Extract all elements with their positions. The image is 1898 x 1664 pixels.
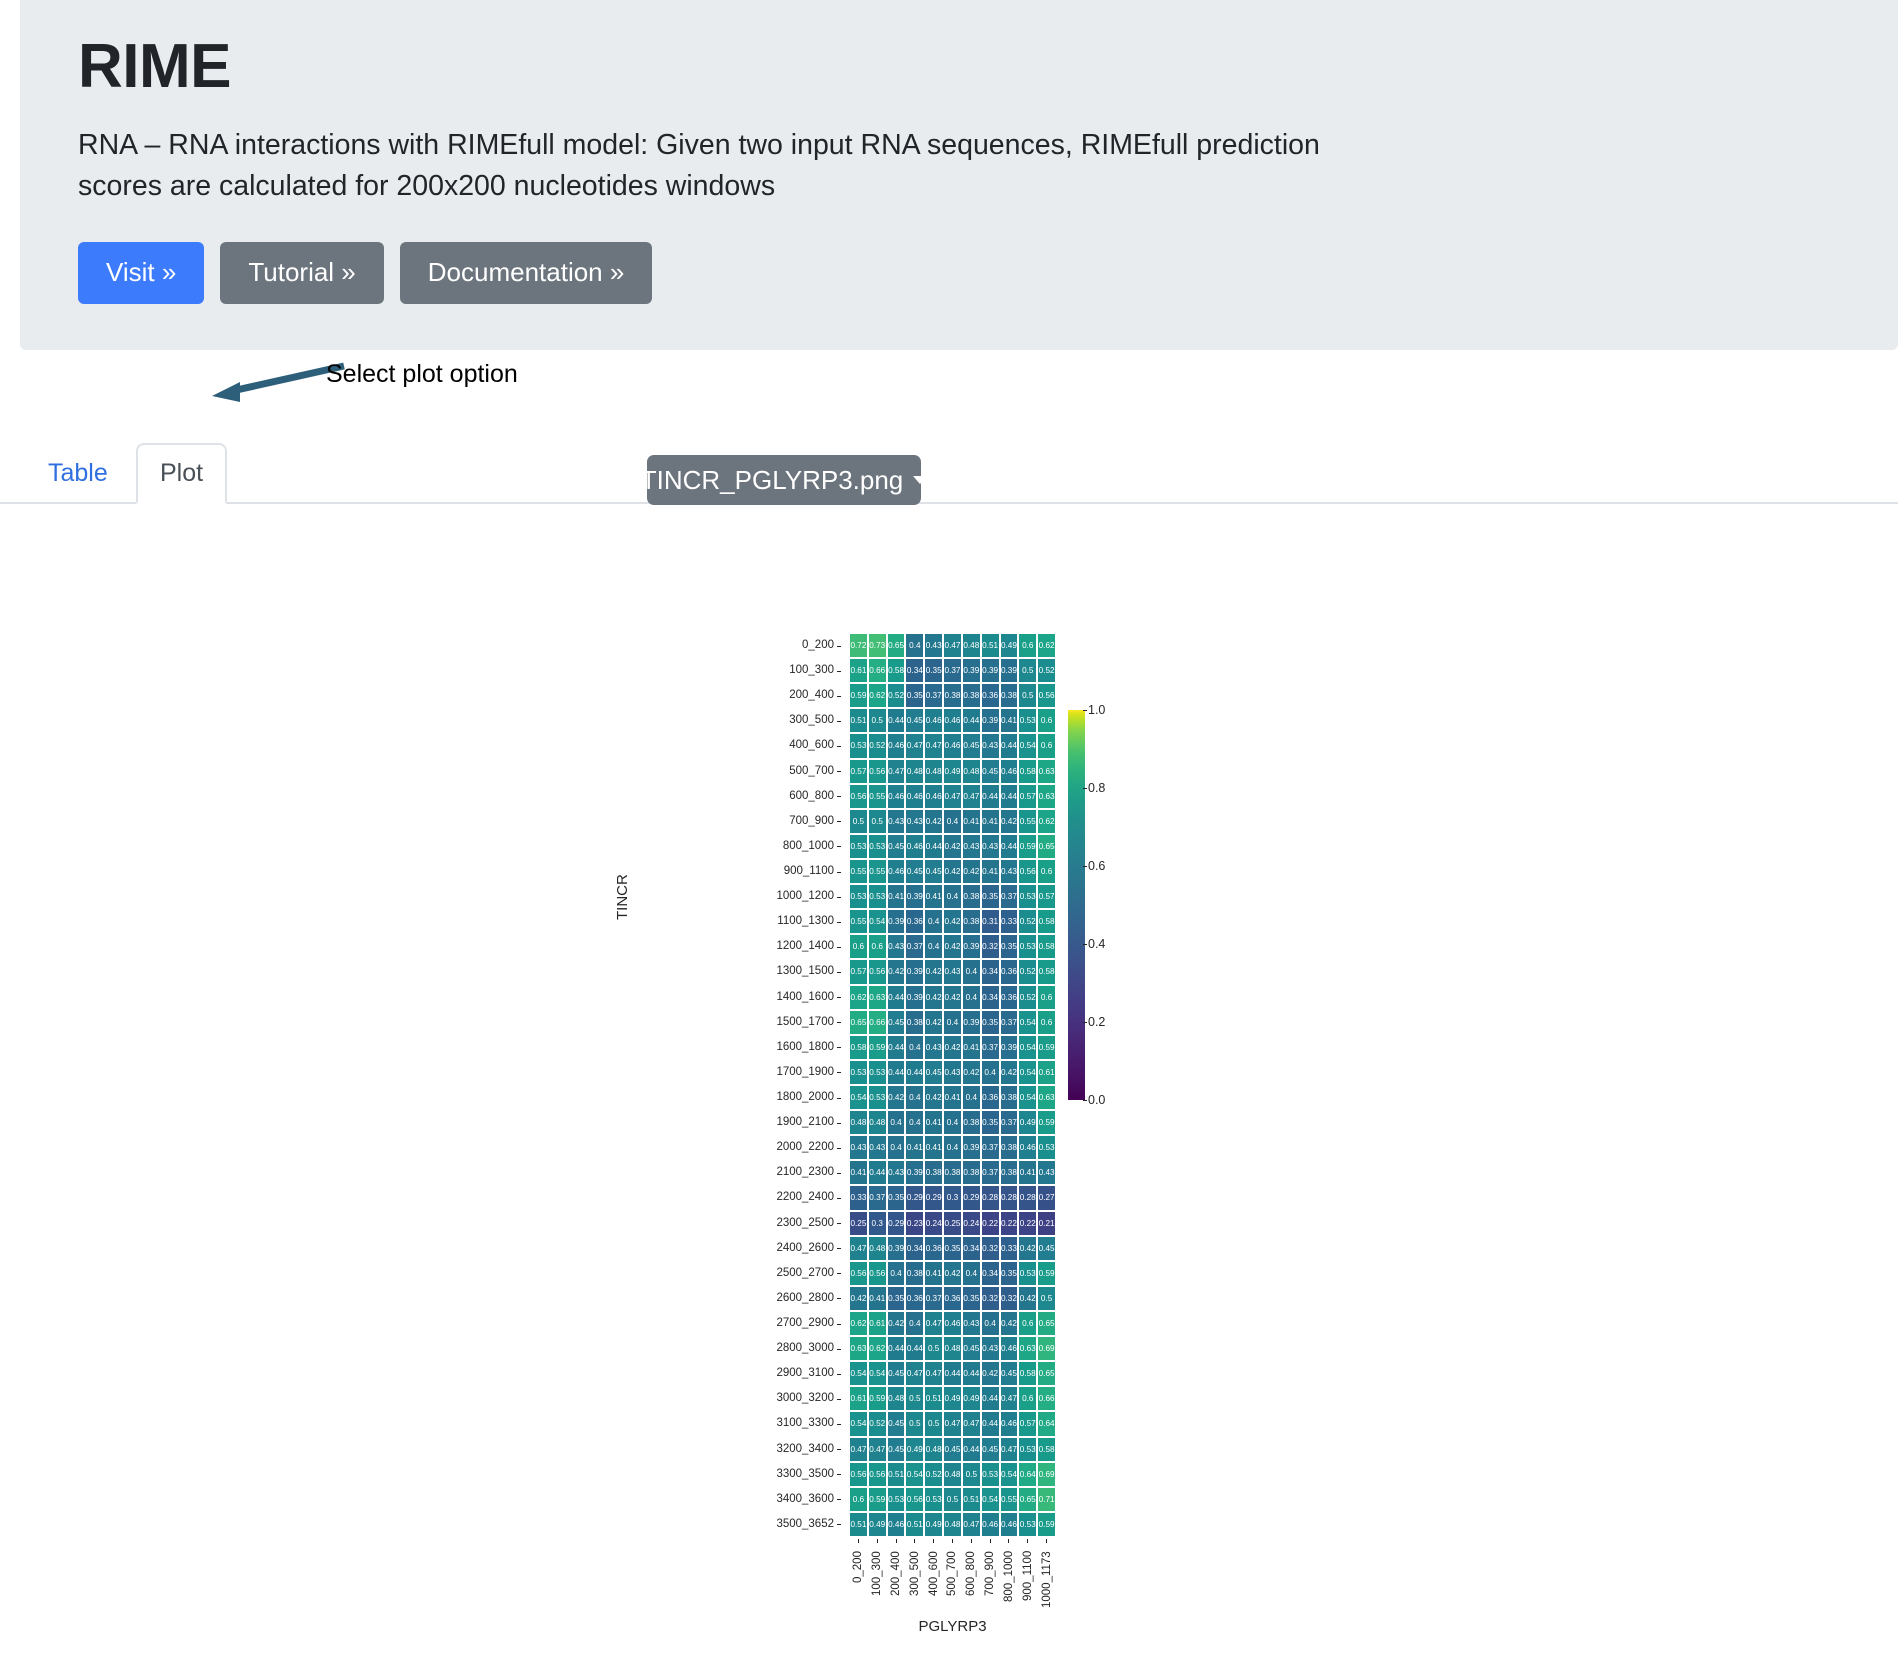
heatmap-cell: 0.58	[1018, 1361, 1037, 1386]
heatmap-cell: 0.58	[1037, 934, 1056, 959]
heatmap-cell: 0.48	[887, 1386, 906, 1411]
heatmap-cell: 0.46	[887, 784, 906, 809]
heatmap-cell: 0.42	[1018, 1286, 1037, 1311]
heatmap-cell: 0.54	[868, 1361, 887, 1386]
heatmap-cell: 0.42	[943, 985, 962, 1010]
heatmap-cell: 0.57	[849, 759, 868, 784]
heatmap-cell: 0.43	[1037, 1160, 1056, 1185]
heatmap-cell: 0.38	[962, 1110, 981, 1135]
heatmap-cell: 0.32	[981, 934, 1000, 959]
heatmap-cell: 0.47	[943, 1411, 962, 1436]
heatmap-cell: 0.52	[887, 683, 906, 708]
heatmap-cell: 0.43	[887, 1160, 906, 1185]
heatmap-cell: 0.4	[924, 909, 943, 934]
heatmap-cell: 0.55	[849, 909, 868, 934]
heatmap-cell: 0.35	[1000, 934, 1019, 959]
heatmap-cell: 0.36	[981, 1085, 1000, 1110]
annotation-arrow-icon	[196, 360, 346, 410]
heatmap-colorbar	[1068, 710, 1085, 1100]
heatmap-cell: 0.48	[924, 759, 943, 784]
heatmap-cell: 0.31	[981, 909, 1000, 934]
heatmap-cell: 0.41	[962, 1035, 981, 1060]
heatmap-cell: 0.36	[981, 683, 1000, 708]
heatmap-cell: 0.53	[868, 884, 887, 909]
heatmap-cell: 0.42	[962, 859, 981, 884]
heatmap-cell: 0.5	[1018, 658, 1037, 683]
heatmap-cell: 0.35	[962, 1286, 981, 1311]
heatmap-cell: 0.51	[887, 1462, 906, 1487]
heatmap-row-label: 1300_1500	[620, 959, 842, 984]
heatmap-cell: 0.22	[1018, 1211, 1037, 1236]
heatmap-cell: 0.44	[962, 1361, 981, 1386]
heatmap-cell: 0.41	[924, 1135, 943, 1160]
heatmap-cell: 0.34	[962, 1236, 981, 1261]
heatmap-cell: 0.39	[887, 1236, 906, 1261]
heatmap-cell: 0.55	[868, 784, 887, 809]
heatmap-cell: 0.45	[981, 759, 1000, 784]
heatmap-cell: 0.54	[868, 909, 887, 934]
heatmap-cell: 0.48	[924, 1437, 943, 1462]
heatmap-cell: 0.43	[924, 633, 943, 658]
heatmap-cell: 0.43	[981, 834, 1000, 859]
heatmap-cell: 0.65	[849, 1010, 868, 1035]
heatmap-cell: 0.45	[887, 1437, 906, 1462]
heatmap-cell: 0.54	[849, 1085, 868, 1110]
heatmap-col-label-wrap: 100_300	[868, 1539, 887, 1613]
heatmap-cell: 0.73	[868, 633, 887, 658]
heatmap-cell: 0.48	[943, 1336, 962, 1361]
heatmap-col-label: 700_900	[984, 1551, 996, 1613]
heatmap-cell: 0.45	[887, 1010, 906, 1035]
heatmap-cell: 0.42	[887, 1311, 906, 1336]
heatmap-cell: 0.37	[924, 683, 943, 708]
heatmap-cell: 0.47	[943, 633, 962, 658]
heatmap-cell: 0.37	[981, 1135, 1000, 1160]
heatmap-cell: 0.69	[1037, 1336, 1056, 1361]
heatmap-row-label: 2900_3100	[620, 1361, 842, 1386]
heatmap-cell: 0.51	[849, 708, 868, 733]
heatmap-cell: 0.45	[887, 834, 906, 859]
heatmap-cell: 0.43	[905, 809, 924, 834]
heatmap-cell: 0.4	[943, 884, 962, 909]
documentation-button[interactable]: Documentation »	[400, 242, 653, 304]
heatmap-cell: 0.43	[943, 959, 962, 984]
heatmap-cell: 0.43	[1000, 859, 1019, 884]
heatmap-col-label-wrap: 1000_1173	[1037, 1539, 1056, 1613]
heatmap-cell: 0.37	[1000, 1010, 1019, 1035]
heatmap-cell: 0.47	[868, 1437, 887, 1462]
heatmap-cell: 0.54	[1018, 1035, 1037, 1060]
heatmap-col-label: 500_700	[946, 1551, 958, 1613]
heatmap-cell: 0.36	[905, 909, 924, 934]
heatmap-cell: 0.48	[868, 1236, 887, 1261]
heatmap-cell: 0.57	[1037, 884, 1056, 909]
heatmap-cell: 0.43	[981, 733, 1000, 758]
heatmap-row-label: 1800_2000	[620, 1085, 842, 1110]
heatmap-cell: 0.44	[905, 1060, 924, 1085]
heatmap-cell: 0.38	[905, 1010, 924, 1035]
heatmap-cell: 0.56	[849, 784, 868, 809]
heatmap-cell: 0.39	[962, 934, 981, 959]
heatmap-cell: 0.37	[943, 658, 962, 683]
colorbar-tick-label: 1.0	[1088, 703, 1105, 717]
heatmap-cell: 0.36	[1000, 985, 1019, 1010]
heatmap-cell: 0.25	[943, 1211, 962, 1236]
heatmap-col-label: 800_1000	[1003, 1551, 1015, 1613]
heatmap-cell: 0.52	[924, 1462, 943, 1487]
heatmap-cell: 0.4	[943, 1135, 962, 1160]
heatmap-cell: 0.46	[905, 784, 924, 809]
heatmap-cell: 0.35	[981, 1110, 1000, 1135]
heatmap-row-label: 3000_3200	[620, 1386, 842, 1411]
heatmap-col-label: 900_1100	[1022, 1551, 1034, 1613]
heatmap-cell: 0.58	[1037, 959, 1056, 984]
heatmap-cell: 0.49	[1000, 633, 1019, 658]
heatmap-cell: 0.53	[1018, 1437, 1037, 1462]
heatmap-cell: 0.52	[1018, 909, 1037, 934]
heatmap-cell: 0.24	[962, 1211, 981, 1236]
heatmap-cell: 0.48	[905, 759, 924, 784]
heatmap-cell: 0.44	[962, 1437, 981, 1462]
heatmap-cell: 0.54	[849, 1361, 868, 1386]
heatmap-cell: 0.42	[943, 934, 962, 959]
heatmap-cell: 0.53	[1037, 1135, 1056, 1160]
heatmap-cell: 0.53	[1018, 1512, 1037, 1537]
heatmap-cell: 0.44	[1000, 784, 1019, 809]
heatmap-cell: 0.6	[849, 934, 868, 959]
heatmap-cell: 0.47	[943, 784, 962, 809]
heatmap-cell: 0.37	[1000, 1110, 1019, 1135]
heatmap-cell: 0.56	[868, 759, 887, 784]
heatmap-cell: 0.5	[924, 1411, 943, 1436]
heatmap-cell: 0.47	[924, 1361, 943, 1386]
heatmap-cell: 0.6	[849, 1487, 868, 1512]
heatmap-cell: 0.69	[1037, 1462, 1056, 1487]
heatmap-cell: 0.39	[981, 658, 1000, 683]
heatmap-cell: 0.35	[887, 1185, 906, 1210]
heatmap-cell: 0.41	[981, 809, 1000, 834]
heatmap-cell: 0.63	[1037, 784, 1056, 809]
heatmap-cell: 0.65	[1037, 1311, 1056, 1336]
heatmap-cell: 0.33	[1000, 909, 1019, 934]
heatmap-cell: 0.59	[849, 683, 868, 708]
heatmap-cell: 0.46	[943, 708, 962, 733]
heatmap-cell: 0.38	[943, 1160, 962, 1185]
heatmap-cell: 0.43	[887, 934, 906, 959]
heatmap-cell: 0.48	[962, 633, 981, 658]
heatmap-cell: 0.47	[962, 1411, 981, 1436]
heatmap-cell: 0.5	[1037, 1286, 1056, 1311]
heatmap-cell: 0.36	[943, 1286, 962, 1311]
heatmap-cell: 0.24	[924, 1211, 943, 1236]
heatmap-cell: 0.43	[943, 1060, 962, 1085]
heatmap-cell: 0.55	[1018, 809, 1037, 834]
heatmap-row-label: 2700_2900	[620, 1311, 842, 1336]
heatmap-row-label: 2300_2500	[620, 1211, 842, 1236]
heatmap-x-axis-label: PGLYRP3	[849, 1618, 1056, 1635]
heatmap-cell: 0.4	[887, 1261, 906, 1286]
heatmap-cell: 0.61	[849, 1386, 868, 1411]
heatmap-cell: 0.44	[887, 708, 906, 733]
heatmap-col-label-wrap: 900_1100	[1018, 1539, 1037, 1613]
heatmap-cell: 0.48	[943, 1462, 962, 1487]
heatmap-cell: 0.21	[1037, 1211, 1056, 1236]
heatmap-cell: 0.51	[849, 1512, 868, 1537]
heatmap-cell: 0.39	[962, 1135, 981, 1160]
heatmap-figure: TINCR 0_200100_300200_400300_500400_6005…	[620, 520, 1280, 1520]
heatmap-cell: 0.37	[981, 1035, 1000, 1060]
heatmap-row-label: 1500_1700	[620, 1010, 842, 1035]
heatmap-cell: 0.39	[905, 884, 924, 909]
heatmap-cell: 0.47	[962, 1512, 981, 1537]
heatmap-row-label: 3200_3400	[620, 1437, 842, 1462]
heatmap-cell: 0.37	[924, 1286, 943, 1311]
heatmap-row-label: 1600_1800	[620, 1035, 842, 1060]
heatmap-cell: 0.42	[943, 909, 962, 934]
heatmap-cell: 0.59	[868, 1035, 887, 1060]
heatmap-cell: 0.6	[1037, 733, 1056, 758]
tutorial-button[interactable]: Tutorial »	[220, 242, 383, 304]
heatmap-y-tick-labels: 0_200100_300200_400300_500400_600500_700…	[620, 633, 842, 1537]
heatmap-col-label-wrap: 400_600	[924, 1539, 943, 1613]
heatmap-cell: 0.44	[981, 784, 1000, 809]
heatmap-cell: 0.41	[1000, 708, 1019, 733]
heatmap-cell: 0.38	[1000, 683, 1019, 708]
heatmap-cell: 0.53	[924, 1487, 943, 1512]
heatmap-cell: 0.42	[962, 1060, 981, 1085]
heatmap-cell: 0.52	[1037, 658, 1056, 683]
heatmap-cell: 0.39	[981, 708, 1000, 733]
heatmap-cell: 0.29	[924, 1185, 943, 1210]
heatmap-cell: 0.42	[943, 1261, 962, 1286]
heatmap-cell: 0.45	[1000, 1361, 1019, 1386]
heatmap-cell: 0.54	[981, 1487, 1000, 1512]
heatmap-cell: 0.61	[1037, 1060, 1056, 1085]
heatmap-cell: 0.4	[981, 1060, 1000, 1085]
heatmap-cell: 0.39	[905, 1160, 924, 1185]
heatmap-col-label-wrap: 600_800	[962, 1539, 981, 1613]
heatmap-cell: 0.29	[887, 1211, 906, 1236]
heatmap-cell: 0.45	[981, 1437, 1000, 1462]
heatmap-cell: 0.53	[887, 1487, 906, 1512]
heatmap-cell: 0.41	[1018, 1160, 1037, 1185]
heatmap-cell: 0.47	[924, 1311, 943, 1336]
heatmap-cell: 0.64	[1037, 1411, 1056, 1436]
heatmap-grid: 0.720.730.650.40.430.470.480.510.490.60.…	[849, 633, 1056, 1537]
heatmap-cell: 0.44	[905, 1336, 924, 1361]
heatmap-row-label: 200_400	[620, 683, 842, 708]
heatmap-cell: 0.44	[962, 708, 981, 733]
heatmap-cell: 0.47	[1000, 1437, 1019, 1462]
heatmap-cell: 0.37	[868, 1185, 887, 1210]
heatmap-cell: 0.46	[1000, 1512, 1019, 1537]
heatmap-cell: 0.45	[1037, 1236, 1056, 1261]
heatmap-cell: 0.34	[981, 959, 1000, 984]
plot-file-dropdown[interactable]: TINCR_PGLYRP3.png	[647, 455, 921, 505]
heatmap-cell: 0.44	[868, 1160, 887, 1185]
heatmap-col-label: 200_400	[890, 1551, 902, 1613]
heatmap-row-label: 2800_3000	[620, 1336, 842, 1361]
heatmap-cell: 0.41	[887, 884, 906, 909]
heatmap-col-label: 300_500	[909, 1551, 921, 1613]
heatmap-cell: 0.41	[849, 1160, 868, 1185]
heatmap-cell: 0.38	[924, 1160, 943, 1185]
heatmap-cell: 0.35	[924, 658, 943, 683]
heatmap-cell: 0.48	[849, 1110, 868, 1135]
heatmap-cell: 0.49	[962, 1386, 981, 1411]
heatmap-cell: 0.61	[849, 658, 868, 683]
heatmap-col-label: 0_200	[852, 1551, 864, 1613]
heatmap-cell: 0.55	[868, 859, 887, 884]
colorbar-tick-label: 0.8	[1088, 781, 1105, 795]
heatmap-cell: 0.5	[868, 708, 887, 733]
heatmap-cell: 0.5	[924, 1336, 943, 1361]
heatmap-cell: 0.54	[1000, 1462, 1019, 1487]
heatmap-cell: 0.53	[1018, 884, 1037, 909]
heatmap-cell: 0.41	[924, 1110, 943, 1135]
heatmap-cell: 0.4	[905, 1311, 924, 1336]
heatmap-cell: 0.58	[887, 658, 906, 683]
heatmap-cell: 0.42	[943, 834, 962, 859]
heatmap-cell: 0.46	[1000, 759, 1019, 784]
heatmap-cell: 0.43	[887, 809, 906, 834]
heatmap-cell: 0.34	[905, 658, 924, 683]
heatmap-cell: 0.53	[1018, 1261, 1037, 1286]
heatmap-cell: 0.44	[981, 1386, 1000, 1411]
heatmap-cell: 0.59	[1037, 1512, 1056, 1537]
heatmap-cell: 0.6	[1018, 1311, 1037, 1336]
heatmap-cell: 0.4	[943, 809, 962, 834]
heatmap-cell: 0.44	[981, 1411, 1000, 1436]
heatmap-cell: 0.43	[849, 1135, 868, 1160]
heatmap-cell: 0.56	[849, 1261, 868, 1286]
heatmap-cell: 0.54	[1018, 733, 1037, 758]
heatmap-cell: 0.53	[849, 834, 868, 859]
heatmap-cell: 0.33	[1000, 1236, 1019, 1261]
heatmap-cell: 0.53	[868, 1060, 887, 1085]
heatmap-row-label: 1900_2100	[620, 1110, 842, 1135]
heatmap-cell: 0.61	[868, 1311, 887, 1336]
heatmap-row-label: 3100_3300	[620, 1411, 842, 1436]
heatmap-cell: 0.62	[1037, 633, 1056, 658]
heatmap-cell: 0.41	[924, 884, 943, 909]
heatmap-cell: 0.42	[1018, 1236, 1037, 1261]
heatmap-row-label: 1200_1400	[620, 934, 842, 959]
heatmap-cell: 0.6	[1018, 633, 1037, 658]
heatmap-cell: 0.45	[887, 1361, 906, 1386]
heatmap-row-label: 1700_1900	[620, 1060, 842, 1085]
heatmap-cell: 0.46	[887, 733, 906, 758]
heatmap-cell: 0.39	[1000, 658, 1019, 683]
heatmap-cell: 0.47	[905, 1361, 924, 1386]
heatmap-cell: 0.38	[962, 909, 981, 934]
heatmap-row-label: 1400_1600	[620, 985, 842, 1010]
heatmap-cell: 0.6	[1037, 985, 1056, 1010]
heatmap-col-label: 1000_1173	[1041, 1551, 1053, 1613]
heatmap-cell: 0.56	[849, 1462, 868, 1487]
tab-bar: Table Plot	[0, 444, 1898, 504]
heatmap-cell: 0.29	[962, 1185, 981, 1210]
heatmap-cell: 0.6	[1018, 1386, 1037, 1411]
heatmap-cell: 0.42	[924, 1085, 943, 1110]
heatmap-col-label: 100_300	[871, 1551, 883, 1613]
heatmap-cell: 0.4	[887, 1110, 906, 1135]
heatmap-cell: 0.44	[924, 834, 943, 859]
heatmap-row-label: 600_800	[620, 784, 842, 809]
heatmap-cell: 0.5	[905, 1386, 924, 1411]
visit-button[interactable]: Visit »	[78, 242, 204, 304]
heatmap-row-label: 800_1000	[620, 834, 842, 859]
heatmap-cell: 0.42	[943, 859, 962, 884]
heatmap-cell: 0.32	[1000, 1286, 1019, 1311]
heatmap-cell: 0.51	[962, 1487, 981, 1512]
heatmap-cell: 0.45	[924, 1060, 943, 1085]
heatmap-row-label: 2400_2600	[620, 1236, 842, 1261]
heatmap-cell: 0.62	[849, 985, 868, 1010]
heatmap-cell: 0.62	[868, 1336, 887, 1361]
heatmap-cell: 0.28	[981, 1185, 1000, 1210]
heatmap-cell: 0.42	[981, 1361, 1000, 1386]
colorbar-tick-label: 0.0	[1088, 1093, 1105, 1107]
heatmap-cell: 0.35	[981, 884, 1000, 909]
heatmap-row-label: 700_900	[620, 809, 842, 834]
heatmap-cell: 0.41	[962, 809, 981, 834]
heatmap-cell: 0.51	[924, 1386, 943, 1411]
heatmap-cell: 0.46	[887, 859, 906, 884]
heatmap-cell: 0.53	[849, 733, 868, 758]
heatmap-cell: 0.53	[981, 1462, 1000, 1487]
heatmap-cell: 0.43	[924, 1035, 943, 1060]
heatmap-cell: 0.56	[905, 1487, 924, 1512]
heatmap-cell: 0.47	[924, 733, 943, 758]
heatmap-cell: 0.43	[981, 1336, 1000, 1361]
tab-table[interactable]: Table	[24, 443, 132, 504]
heatmap-cell: 0.39	[905, 985, 924, 1010]
heatmap-col-label-wrap: 200_400	[887, 1539, 906, 1613]
heatmap-cell: 0.41	[868, 1286, 887, 1311]
heatmap-cell: 0.4	[905, 1035, 924, 1060]
heatmap-cell: 0.4	[962, 1261, 981, 1286]
heatmap-cell: 0.44	[1000, 834, 1019, 859]
heatmap-row-label: 100_300	[620, 658, 842, 683]
heatmap-cell: 0.59	[868, 1487, 887, 1512]
heatmap-cell: 0.42	[924, 985, 943, 1010]
heatmap-cell: 0.3	[868, 1211, 887, 1236]
heatmap-cell: 0.38	[905, 1261, 924, 1286]
heatmap-cell: 0.45	[962, 1336, 981, 1361]
heatmap-cell: 0.54	[1018, 1085, 1037, 1110]
tab-plot[interactable]: Plot	[136, 443, 227, 504]
heatmap-cell: 0.43	[962, 834, 981, 859]
heatmap-cell: 0.52	[868, 1411, 887, 1436]
heatmap-cell: 0.46	[1000, 1336, 1019, 1361]
heatmap-cell: 0.49	[905, 1437, 924, 1462]
heatmap-cell: 0.53	[1018, 934, 1037, 959]
heatmap-cell: 0.42	[887, 1085, 906, 1110]
heatmap-row-label: 2000_2200	[620, 1135, 842, 1160]
header-button-row: Visit » Tutorial » Documentation »	[78, 242, 1840, 304]
heatmap-cell: 0.54	[1018, 1010, 1037, 1035]
heatmap-cell: 0.52	[868, 733, 887, 758]
annotation-label: Select plot option	[326, 360, 518, 389]
heatmap-cell: 0.6	[1037, 859, 1056, 884]
heatmap-cell: 0.4	[887, 1135, 906, 1160]
heatmap-cell: 0.36	[924, 1236, 943, 1261]
heatmap-col-label-wrap: 300_500	[905, 1539, 924, 1613]
heatmap-cell: 0.4	[962, 985, 981, 1010]
heatmap-cell: 0.37	[981, 1160, 1000, 1185]
heatmap-cell: 0.56	[868, 1462, 887, 1487]
